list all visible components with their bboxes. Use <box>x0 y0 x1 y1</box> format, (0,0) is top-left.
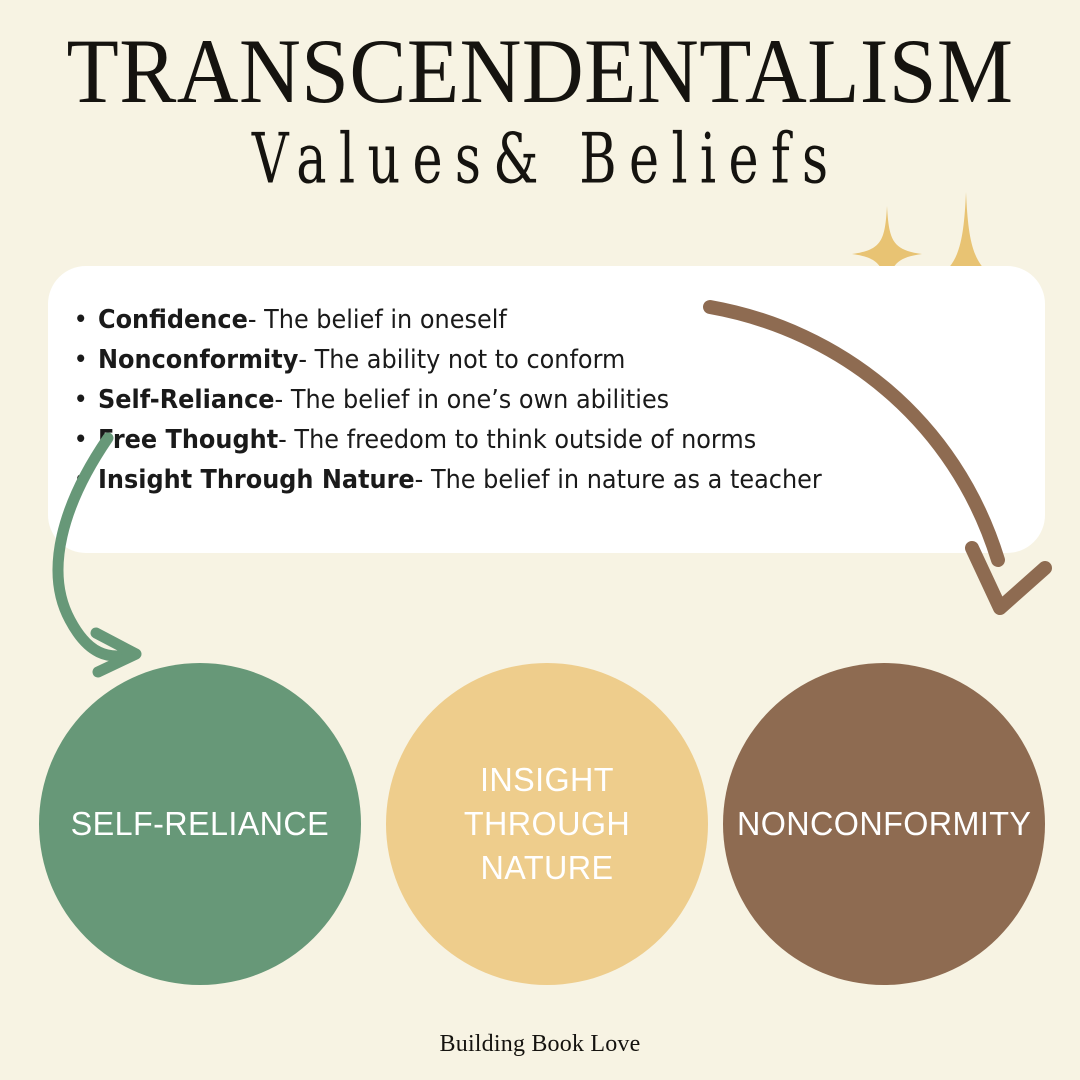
list-item-term: Self-Reliance <box>98 385 275 415</box>
list-item: Free Thought- The freedom to think outsi… <box>98 420 991 460</box>
list-item: Insight Through Nature- The belief in na… <box>98 460 991 500</box>
value-circle-insight-through-nature[interactable]: INSIGHT THROUGH NATURE <box>386 663 708 985</box>
header: TRANSCENDENTALISM Values& Beliefs <box>0 26 1080 191</box>
list-item-definition: - The ability not to conform <box>298 345 625 375</box>
page-subtitle: Values& Beliefs <box>97 122 983 195</box>
footer: Building Book Love <box>0 1031 1080 1058</box>
list-item: Confidence- The belief in oneself <box>98 300 991 340</box>
list-item: Nonconformity- The ability not to confor… <box>98 340 991 380</box>
list-item-definition: - The belief in nature as a teacher <box>415 465 822 495</box>
value-circle-label: NONCONFORMITY <box>729 802 1039 846</box>
list-item-term: Confidence <box>98 305 248 335</box>
list-item-definition: - The belief in one’s own abilities <box>275 385 670 415</box>
list-item-definition: - The belief in oneself <box>248 305 507 335</box>
list-item-term: Nonconformity <box>98 345 298 375</box>
page-title: TRANSCENDENTALISM <box>38 26 1042 116</box>
list-item-term: Insight Through Nature <box>98 465 415 495</box>
value-circle-self-reliance[interactable]: SELF-RELIANCE <box>39 663 361 985</box>
brand-name: Building Book Love <box>440 1031 641 1057</box>
list-item-term: Free Thought <box>98 425 278 455</box>
list-item-definition: - The freedom to think outside of norms <box>278 425 756 455</box>
value-circle-label: SELF-RELIANCE <box>63 802 337 846</box>
values-list: Confidence- The belief in oneself Noncon… <box>48 300 1048 500</box>
value-circle-label: INSIGHT THROUGH NATURE <box>389 758 705 890</box>
infographic-poster: TRANSCENDENTALISM Values& Beliefs Confid… <box>0 0 1080 1080</box>
list-item: Self-Reliance- The belief in one’s own a… <box>98 380 991 420</box>
value-circle-nonconformity[interactable]: NONCONFORMITY <box>723 663 1045 985</box>
